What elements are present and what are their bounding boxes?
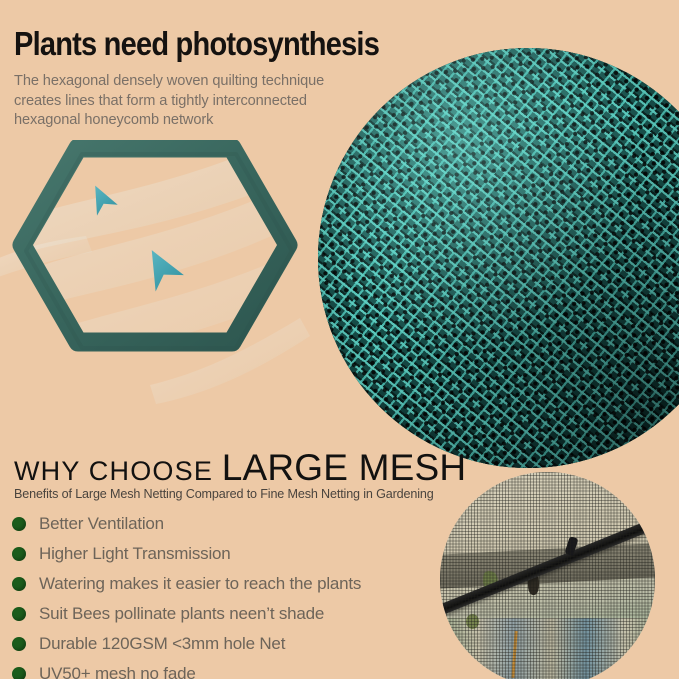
- list-item: Durable 120GSM <3mm hole Net: [12, 629, 432, 659]
- why-choose-small-text: WHY CHOOSE: [14, 456, 213, 486]
- list-item-label: Higher Light Transmission: [39, 544, 231, 564]
- bullet-dot-icon: [12, 547, 26, 561]
- list-item: Suit Bees pollinate plants neen’t shade: [12, 599, 432, 629]
- list-item: Better Ventilation: [12, 509, 432, 539]
- list-item: Watering makes it easier to reach the pl…: [12, 569, 432, 599]
- bullet-dot-icon: [12, 637, 26, 651]
- fine-mesh-photo-circle: [440, 472, 655, 679]
- bullet-dot-icon: [12, 577, 26, 591]
- why-choose-heading: WHY CHOOSE LARGE MESH: [14, 449, 466, 486]
- list-item-label: Better Ventilation: [39, 514, 164, 534]
- infographic-root: Plants need photosynthesis The hexagonal…: [0, 0, 679, 679]
- why-choose-large-text: LARGE MESH: [222, 447, 467, 488]
- benefits-list: Better Ventilation Higher Light Transmis…: [12, 509, 432, 679]
- list-item: UV50+ mesh no fade: [12, 659, 432, 679]
- bullet-dot-icon: [12, 517, 26, 531]
- list-item: Higher Light Transmission: [12, 539, 432, 569]
- mesh-closeup-circle: [318, 48, 679, 468]
- list-item-label: Suit Bees pollinate plants neen’t shade: [39, 604, 324, 624]
- bullet-dot-icon: [12, 607, 26, 621]
- page-title: Plants need photosynthesis: [14, 27, 379, 60]
- hexagon-illustration: [0, 140, 330, 440]
- list-item-label: UV50+ mesh no fade: [39, 664, 196, 679]
- benefits-subtitle: Benefits of Large Mesh Netting Compared …: [14, 487, 434, 501]
- photo-vignette: [440, 472, 655, 679]
- page-subtitle: The hexagonal densely woven quilting tec…: [14, 72, 364, 131]
- bullet-dot-icon: [12, 667, 26, 679]
- list-item-label: Watering makes it easier to reach the pl…: [39, 574, 361, 594]
- mesh-shading-overlay: [318, 48, 679, 468]
- list-item-label: Durable 120GSM <3mm hole Net: [39, 634, 285, 654]
